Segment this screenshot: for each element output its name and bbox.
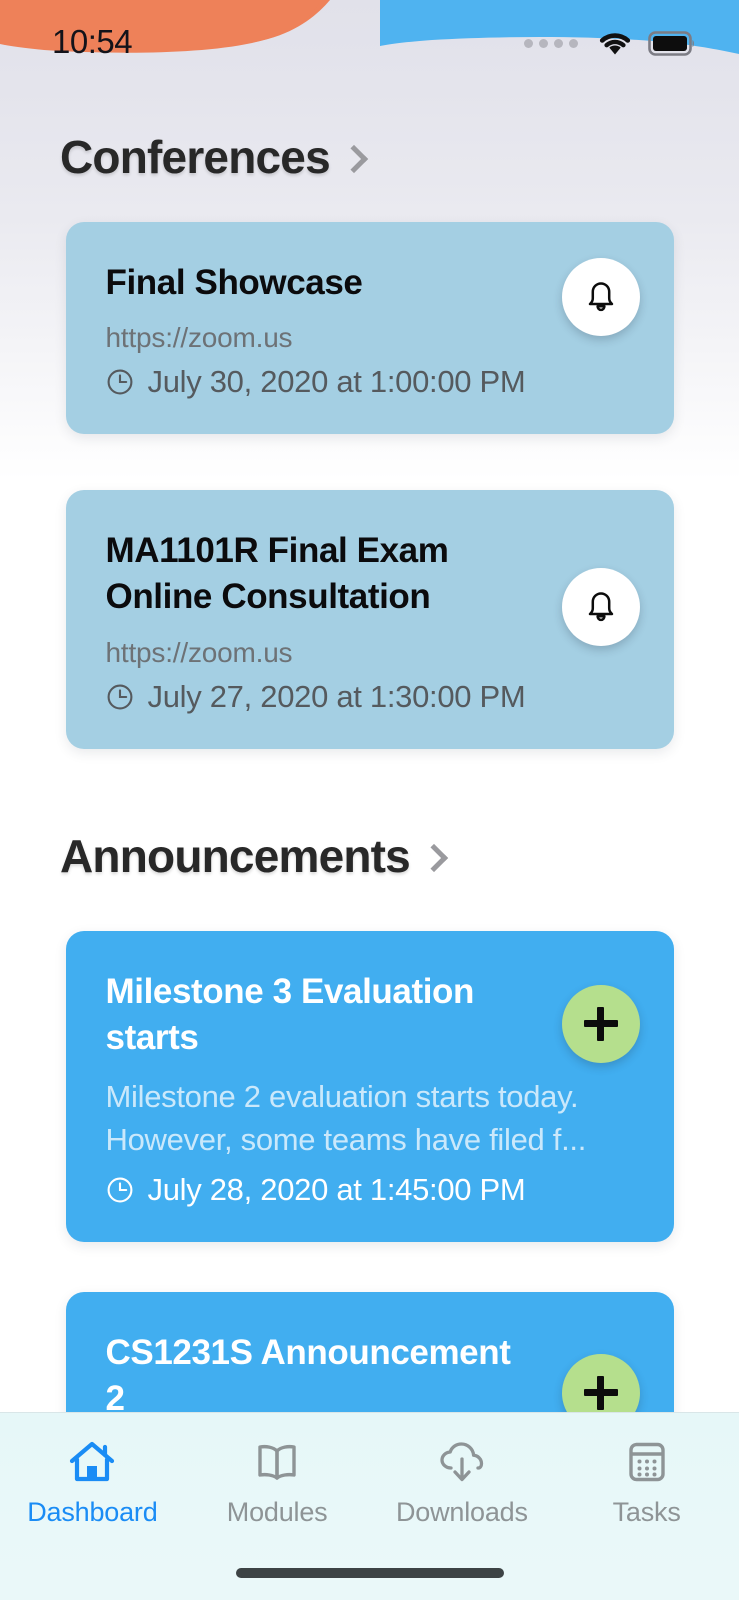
calendar-icon [624,1439,670,1485]
plus-icon [584,1007,618,1041]
status-bar: 10:54 [0,0,739,80]
plus-icon [584,1376,618,1410]
clock-icon [106,1176,134,1204]
announcement-title: Milestone 3 Evaluation starts [106,969,526,1061]
tab-modules[interactable]: Modules [187,1439,367,1528]
wifi-icon [597,30,633,57]
clock-icon [106,368,134,396]
announcement-description: Milestone 2 evaluation starts today. How… [106,1075,634,1162]
conference-time-row: July 30, 2020 at 1:00:00 PM [106,364,634,400]
page-title: Conferences [60,130,330,184]
tab-tasks[interactable]: Tasks [557,1439,737,1528]
notify-bell-button[interactable] [562,568,640,646]
conference-card[interactable]: Final Showcase https://zoom.us July 30, … [66,222,674,434]
tab-dashboard[interactable]: Dashboard [2,1439,182,1528]
scroll-content[interactable]: Conferences Final Showcase https://zoom.… [0,0,739,1600]
conference-url: https://zoom.us [106,637,634,669]
add-announcement-button[interactable] [562,985,640,1063]
notify-bell-button[interactable] [562,258,640,336]
announcement-title: CS1231S Announcement 2 [106,1330,526,1422]
signal-dots-icon [524,39,578,48]
tab-label: Modules [227,1497,328,1528]
book-icon [253,1439,301,1485]
chevron-right-icon[interactable] [340,145,368,173]
announcement-card[interactable]: Milestone 3 Evaluation starts Milestone … [66,931,674,1242]
chevron-right-icon[interactable] [420,843,448,871]
home-indicator[interactable] [236,1568,504,1578]
announcement-time-row: July 28, 2020 at 1:45:00 PM [106,1172,634,1208]
phone-screen: 10:54 Conferences Final Showc [0,0,739,1600]
conference-time: July 30, 2020 at 1:00:00 PM [148,364,526,400]
tab-label: Tasks [613,1497,681,1528]
conference-title: Final Showcase [106,260,526,306]
conference-url: https://zoom.us [106,322,634,354]
battery-full-icon [648,31,695,56]
cloud-download-icon [437,1439,487,1485]
section-title: Announcements [60,829,410,883]
tab-downloads[interactable]: Downloads [372,1439,552,1528]
tab-label: Downloads [396,1497,528,1528]
announcement-time: July 28, 2020 at 1:45:00 PM [148,1172,526,1208]
bell-icon [581,587,621,627]
bell-icon [581,277,621,317]
conference-time: July 27, 2020 at 1:30:00 PM [148,679,526,715]
conference-title: MA1101R Final Exam Online Consultation [106,528,526,620]
tab-label: Dashboard [27,1497,157,1528]
clock-icon [106,683,134,711]
conference-card[interactable]: MA1101R Final Exam Online Consultation h… [66,490,674,748]
status-time: 10:54 [52,23,132,61]
conference-time-row: July 27, 2020 at 1:30:00 PM [106,679,634,715]
section-header-conferences[interactable]: Conferences [0,130,739,184]
home-icon [68,1439,116,1485]
section-header-announcements[interactable]: Announcements [0,829,739,883]
status-indicators [524,30,695,57]
